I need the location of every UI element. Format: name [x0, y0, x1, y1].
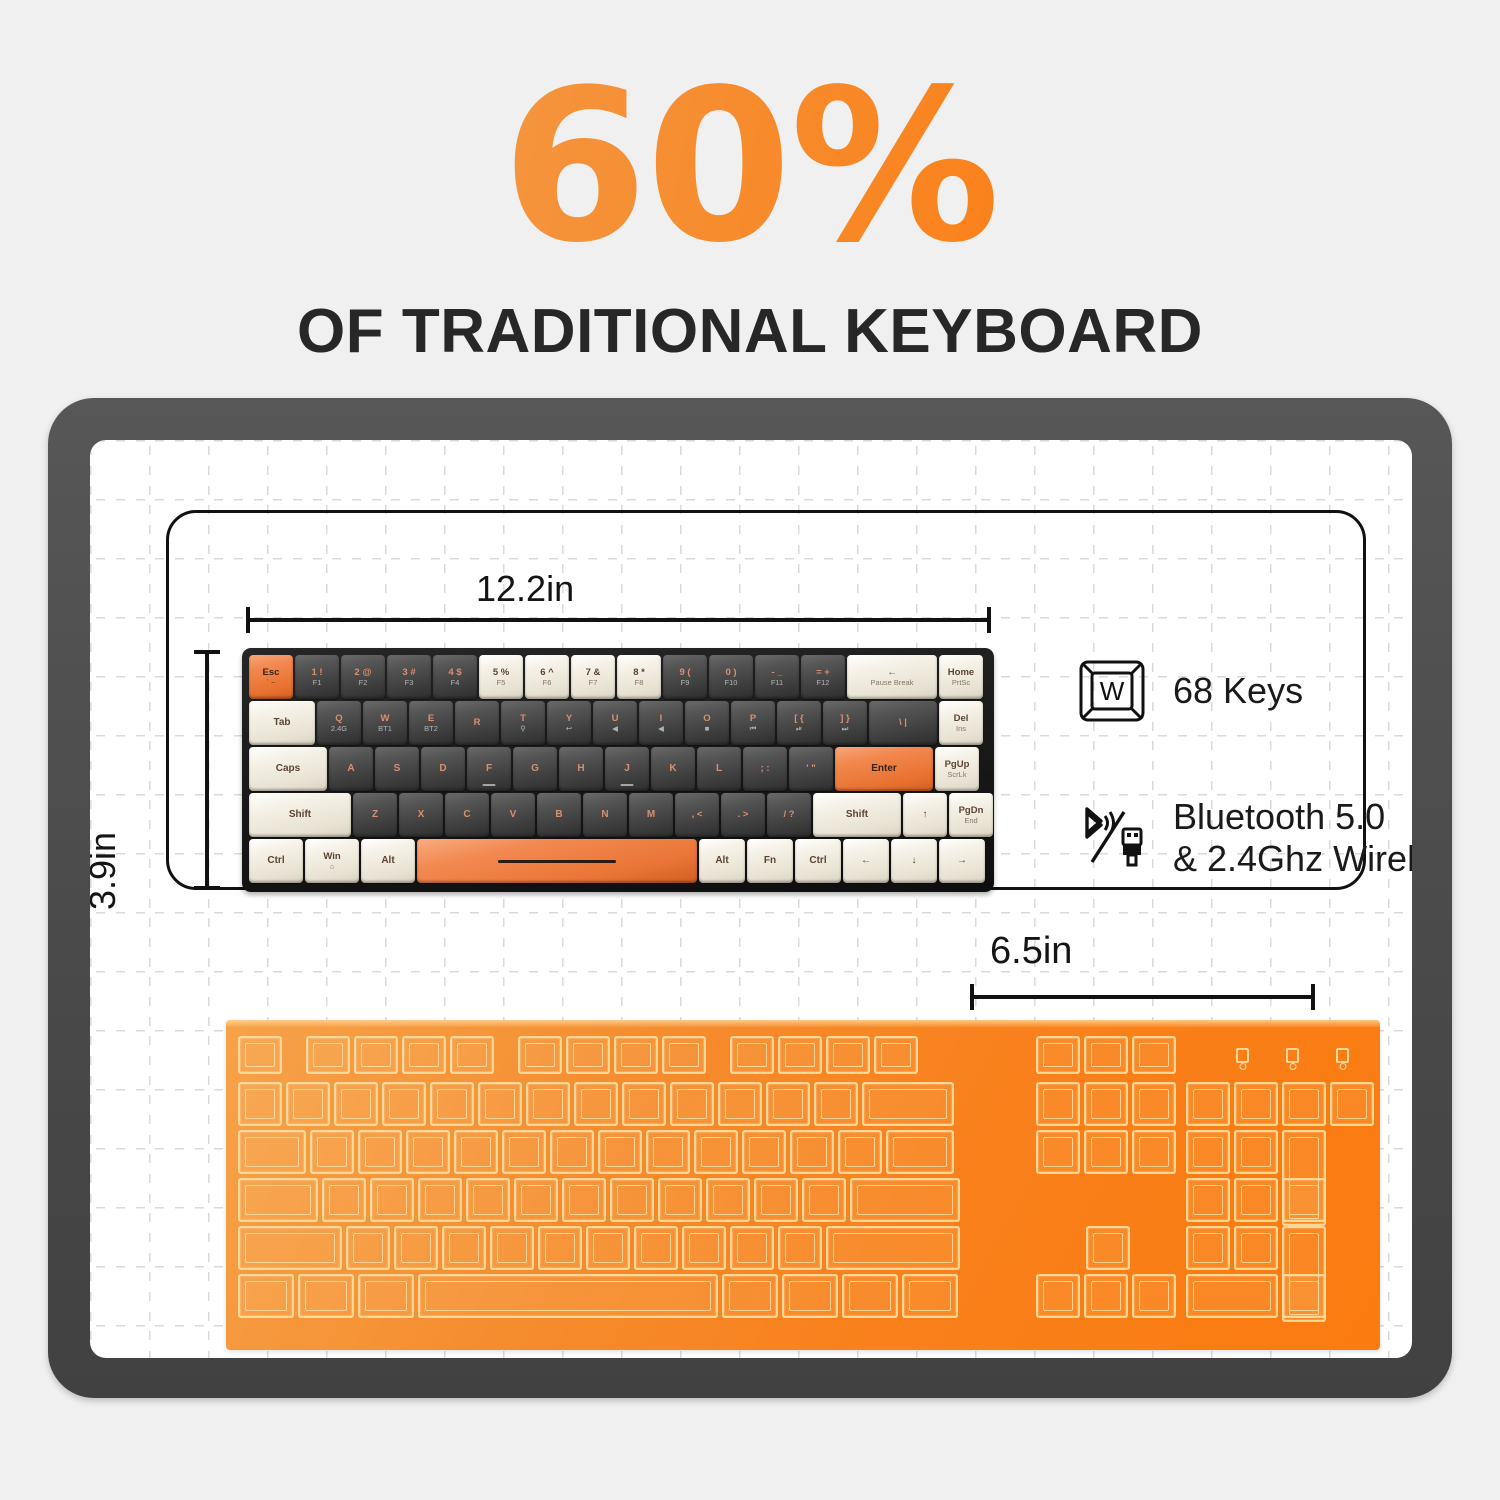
fullsize-key	[814, 1082, 858, 1126]
fullsize-key	[1084, 1130, 1128, 1174]
fullsize-key	[562, 1178, 606, 1222]
fullsize-key	[430, 1082, 474, 1126]
key-primary-label: 2 @	[354, 668, 371, 678]
home-row-bump	[621, 784, 634, 786]
key-label: →	[957, 856, 967, 867]
fullsize-key	[406, 1130, 450, 1174]
fullsize-key	[586, 1226, 630, 1270]
fullsize-key	[622, 1082, 666, 1126]
key-label: G	[531, 764, 539, 775]
key-primary-label: W	[381, 714, 390, 724]
key-g[interactable]: G	[513, 747, 557, 791]
fullsize-key	[442, 1226, 486, 1270]
fullsize-key	[658, 1178, 702, 1222]
key-6[interactable]: 6 ^F6	[525, 655, 569, 699]
key-q[interactable]: Q2.4G	[317, 701, 361, 745]
fullsize-key	[730, 1036, 774, 1074]
fullsize-key	[1186, 1226, 1230, 1270]
fullsize-key	[574, 1082, 618, 1126]
bluetooth-usb-dongle-icon	[1075, 805, 1149, 871]
fullsize-key	[238, 1226, 342, 1270]
key-secondary-label: ⏯	[796, 725, 802, 733]
fullsize-key	[646, 1130, 690, 1174]
home-row-bump	[483, 784, 496, 786]
fullsize-key	[450, 1036, 494, 1074]
fullsize-key	[670, 1082, 714, 1126]
key-secondary-label: F10	[725, 679, 738, 687]
fullsize-key	[1086, 1226, 1130, 1270]
key-del[interactable]: DelIns	[939, 701, 983, 745]
key-primary-label: 1 !	[311, 668, 322, 678]
fullsize-key	[1234, 1082, 1278, 1126]
fullsize-key	[662, 1036, 706, 1074]
key-sym[interactable]: = +F12	[801, 655, 845, 699]
key-label: J	[624, 764, 630, 775]
fullsize-key-row	[1036, 1274, 1180, 1318]
key-primary-label: . >	[738, 810, 749, 820]
fullsize-key	[298, 1274, 354, 1318]
key-primary-label: , <	[692, 810, 703, 820]
fullsize-key-row	[238, 1130, 958, 1174]
fullsize-key	[454, 1130, 498, 1174]
key-esc[interactable]: Esc` ~	[249, 655, 293, 699]
fullsize-key	[598, 1130, 642, 1174]
fullsize-key	[466, 1178, 510, 1222]
key-p[interactable]: P⏮	[731, 701, 775, 745]
fullsize-key	[610, 1178, 654, 1222]
key-sym[interactable]: [ {⏯	[777, 701, 821, 745]
fullsize-key	[394, 1226, 438, 1270]
status-led-icon	[1286, 1048, 1299, 1063]
fullsize-key	[1282, 1178, 1326, 1222]
key-label: Ctrl	[267, 856, 284, 867]
key-secondary-label: ScrLk	[947, 771, 966, 779]
fullsize-key	[1036, 1274, 1080, 1318]
key-secondary-label: End	[964, 817, 977, 825]
key-label: Ctrl	[809, 856, 826, 867]
key-label: Caps	[276, 764, 300, 775]
key-j[interactable]: J	[605, 747, 649, 791]
key-a[interactable]: A	[329, 747, 373, 791]
key-gap	[286, 1036, 306, 1074]
key-caps[interactable]: Caps	[249, 747, 327, 791]
key-label: L	[716, 764, 722, 775]
fullsize-key-row	[238, 1274, 962, 1318]
key-u[interactable]: U◀	[593, 701, 637, 745]
key-primary-label: / ?	[783, 810, 794, 820]
key-primary-label: R	[474, 718, 481, 728]
key-8[interactable]: 8 *F8	[617, 655, 661, 699]
key-z[interactable]: Z	[353, 793, 397, 837]
percent-headline: 60%	[0, 62, 1500, 272]
fullsize-key	[682, 1226, 726, 1270]
fullsize-key	[634, 1226, 678, 1270]
fullsize-key	[1036, 1036, 1080, 1074]
key-w[interactable]: WBT1	[363, 701, 407, 745]
key-f[interactable]: F	[467, 747, 511, 791]
key-primary-label: 7 &	[586, 668, 601, 678]
fullsize-key-row	[1186, 1082, 1378, 1126]
key-label: A	[347, 764, 354, 775]
key-ctrl[interactable]: Ctrl	[795, 839, 841, 883]
fullsize-key	[310, 1130, 354, 1174]
fullsize-key	[718, 1082, 762, 1126]
key-primary-label: 5 %	[493, 668, 509, 678]
key-primary-label: Q	[335, 714, 342, 724]
key-primary-label: [ {	[794, 714, 804, 724]
key-label: Z	[372, 810, 378, 821]
key-label: Shift	[289, 810, 311, 821]
fullsize-key	[754, 1178, 798, 1222]
key-space[interactable]	[417, 839, 697, 883]
key-sym[interactable]: →	[939, 839, 985, 883]
keycap-w-icon: W	[1075, 658, 1149, 724]
fullsize-key	[1282, 1082, 1326, 1126]
fullsize-key-row	[1086, 1226, 1134, 1270]
key-secondary-label: F5	[497, 679, 506, 687]
dimension-rule-extra-width	[970, 995, 1315, 999]
key-b[interactable]: B	[537, 793, 581, 837]
key-primary-label: \ |	[899, 718, 907, 728]
key-primary-label: E	[428, 714, 434, 724]
key-secondary-label: F2	[359, 679, 368, 687]
key-sym[interactable]: ; :	[743, 747, 787, 791]
key-primary-label: 4 $	[448, 668, 461, 678]
key-primary-label: Win	[323, 852, 340, 862]
fullsize-key	[502, 1130, 546, 1174]
fullsize-key	[862, 1082, 954, 1126]
key-fn[interactable]: Fn	[747, 839, 793, 883]
fullsize-key	[358, 1130, 402, 1174]
key-pgdn[interactable]: PgDnEnd	[949, 793, 993, 837]
fullsize-key	[1282, 1274, 1326, 1318]
fullsize-key	[566, 1036, 610, 1074]
key-secondary-label: Ins	[956, 725, 966, 733]
key-label: N	[601, 810, 608, 821]
key-label: Alt	[715, 856, 728, 867]
key-m[interactable]: M	[629, 793, 673, 837]
fullsize-key	[778, 1226, 822, 1270]
key-primary-label: ] }	[840, 714, 850, 724]
fullsize-key	[1234, 1178, 1278, 1222]
key-9[interactable]: 9 (F9	[663, 655, 707, 699]
key-l[interactable]: L	[697, 747, 741, 791]
fullsize-key	[1234, 1226, 1278, 1270]
key-x[interactable]: X	[399, 793, 443, 837]
key-shift[interactable]: Shift	[249, 793, 351, 837]
key-sym[interactable]: ↓	[891, 839, 937, 883]
key-primary-label: ' "	[806, 764, 815, 774]
key-label: K	[669, 764, 676, 775]
key-win[interactable]: Win⌂	[305, 839, 359, 883]
key-label: Shift	[846, 810, 868, 821]
key-primary-label: 9 (	[679, 668, 690, 678]
dimension-label-extra-width: 6.5in	[990, 930, 1072, 973]
fullsize-keyboard-silhouette	[226, 1020, 1380, 1350]
key-h[interactable]: H	[559, 747, 603, 791]
fullsize-key	[1132, 1274, 1176, 1318]
fullsize-key-row	[238, 1082, 958, 1126]
key-secondary-label: F3	[405, 679, 414, 687]
fullsize-key	[1084, 1036, 1128, 1074]
fullsize-key	[1132, 1130, 1176, 1174]
key-d[interactable]: D	[421, 747, 465, 791]
key-label: H	[577, 764, 584, 775]
key-label: B	[555, 810, 562, 821]
key-secondary-label: ⏭	[842, 725, 849, 733]
compact-key-row: ShiftZXCVBNM, <. >/ ?Shift↑PgDnEnd	[249, 793, 988, 837]
key-secondary-label: ⌂	[330, 863, 335, 871]
key-secondary-label: ⏮	[750, 725, 757, 733]
fullsize-key-row	[1186, 1274, 1330, 1318]
fullsize-key	[238, 1274, 294, 1318]
key-sym[interactable]: - _F11	[755, 655, 799, 699]
key-secondary-label: ↩	[566, 725, 572, 733]
key-ctrl[interactable]: Ctrl	[249, 839, 303, 883]
key-secondary-label: BT2	[424, 725, 438, 733]
key-primary-label: U	[612, 714, 619, 724]
fullsize-key-row	[238, 1226, 964, 1270]
key-primary-label: O	[703, 714, 710, 724]
feature-label-keys: 68 Keys	[1173, 670, 1303, 712]
key-secondary-label: ■	[705, 725, 710, 733]
fullsize-key	[1084, 1082, 1128, 1126]
fullsize-key	[346, 1226, 390, 1270]
key-secondary-label: F1	[313, 679, 322, 687]
key-alt[interactable]: Alt	[699, 839, 745, 883]
key-primary-label: PgDn	[959, 806, 984, 816]
showcase-canvas: 12.2in 3.9in 6.5in Esc` ~1 !F12 @F23 #F3…	[90, 440, 1412, 1358]
status-led-icon	[1236, 1048, 1249, 1063]
key-primary-label: = +	[816, 668, 830, 678]
fullsize-key	[742, 1130, 786, 1174]
key-i[interactable]: I◀	[639, 701, 683, 745]
key-e[interactable]: EBT2	[409, 701, 453, 745]
fullsize-key	[238, 1130, 306, 1174]
key-v[interactable]: V	[491, 793, 535, 837]
key-label: X	[418, 810, 425, 821]
fullsize-key	[1186, 1274, 1278, 1318]
fullsize-key	[370, 1178, 414, 1222]
fullsize-key	[706, 1178, 750, 1222]
feature-list: W 68 Keys	[1075, 658, 1412, 953]
fullsize-key-row	[1186, 1178, 1330, 1222]
fullsize-key	[238, 1178, 318, 1222]
fullsize-key	[886, 1130, 954, 1174]
fullsize-key	[1186, 1178, 1230, 1222]
key-sym[interactable]: ] }⏭	[823, 701, 867, 745]
fullsize-key	[514, 1178, 558, 1222]
fullsize-key	[354, 1036, 398, 1074]
key-primary-label: Home	[948, 668, 974, 678]
fullsize-key	[286, 1082, 330, 1126]
key-sym[interactable]: , <	[675, 793, 719, 837]
key-label: C	[463, 810, 470, 821]
fullsize-key-row	[238, 1036, 922, 1074]
key-primary-label: Del	[954, 714, 969, 724]
fullsize-key	[334, 1082, 378, 1126]
fullsize-key-row	[1036, 1036, 1180, 1074]
key-secondary-label: F4	[451, 679, 460, 687]
headline-block: 60% OF TRADITIONAL KEYBOARD	[0, 0, 1500, 367]
key-secondary-label: BT1	[378, 725, 392, 733]
fullsize-key	[790, 1130, 834, 1174]
key-secondary-label: ◀	[658, 725, 664, 733]
key-sym[interactable]: / ?	[767, 793, 811, 837]
fullsize-key	[838, 1130, 882, 1174]
key-primary-label: I	[660, 714, 663, 724]
key-k[interactable]: K	[651, 747, 695, 791]
fullsize-key	[518, 1036, 562, 1074]
fullsize-key	[418, 1178, 462, 1222]
key-label: Alt	[381, 856, 394, 867]
key-sym[interactable]: \ |	[869, 701, 937, 745]
fullsize-key-row	[238, 1178, 964, 1222]
fullsize-key	[730, 1226, 774, 1270]
key-sym[interactable]: ←Pause Break	[847, 655, 937, 699]
showcase-frame: 12.2in 3.9in 6.5in Esc` ~1 !F12 @F23 #F3…	[48, 398, 1452, 1398]
key-r[interactable]: R	[455, 701, 499, 745]
key-primary-label: PgUp	[945, 760, 970, 770]
key-1[interactable]: 1 !F1	[295, 655, 339, 699]
key-7[interactable]: 7 &F7	[571, 655, 615, 699]
key-sym[interactable]: ←	[843, 839, 889, 883]
fullsize-key	[778, 1036, 822, 1074]
dimension-rule-height	[205, 650, 209, 890]
key-label: V	[510, 810, 517, 821]
fullsize-key	[766, 1082, 810, 1126]
key-primary-label: 8 *	[633, 668, 645, 678]
key-n[interactable]: N	[583, 793, 627, 837]
key-label: S	[394, 764, 401, 775]
key-secondary-label: PrtSc	[952, 679, 970, 687]
key-pgup[interactable]: PgUpScrLk	[935, 747, 979, 791]
key-secondary-label: ◀	[612, 725, 618, 733]
fullsize-key	[722, 1274, 778, 1318]
key-home[interactable]: HomePrtSc	[939, 655, 983, 699]
fullsize-key	[526, 1082, 570, 1126]
key-secondary-label: F11	[771, 679, 783, 687]
key-secondary-label: F9	[681, 679, 690, 687]
key-s[interactable]: S	[375, 747, 419, 791]
key-c[interactable]: C	[445, 793, 489, 837]
key-primary-label: ; :	[761, 764, 770, 774]
key-2[interactable]: 2 @F2	[341, 655, 385, 699]
key-label: Tab	[273, 718, 290, 729]
key-label: ↓	[912, 856, 917, 867]
key-gap	[498, 1036, 518, 1074]
key-sym[interactable]: . >	[721, 793, 765, 837]
compact-key-row: TabQ2.4GWBT1EBT2RT⚲Y↩U◀I◀O■P⏮[ {⏯] }⏭\ |…	[249, 701, 988, 745]
key-3[interactable]: 3 #F3	[387, 655, 431, 699]
fullsize-key	[614, 1036, 658, 1074]
key-label: Fn	[764, 856, 776, 867]
key-y[interactable]: Y↩	[547, 701, 591, 745]
key-primary-label: 6 ^	[540, 668, 553, 678]
fullsize-key	[1186, 1082, 1230, 1126]
svg-text:W: W	[1100, 676, 1125, 706]
key-t[interactable]: T⚲	[501, 701, 545, 745]
key-primary-label: - _	[771, 668, 782, 678]
fullsize-key	[694, 1130, 738, 1174]
key-secondary-label: ` ~	[267, 679, 276, 687]
fullsize-key	[238, 1082, 282, 1126]
key-o[interactable]: O■	[685, 701, 729, 745]
fullsize-key	[782, 1274, 838, 1318]
fullsize-key	[490, 1226, 534, 1270]
compact-key-row: Esc` ~1 !F12 @F23 #F34 $F45 %F56 ^F67 &F…	[249, 655, 988, 699]
fullsize-key	[1132, 1082, 1176, 1126]
key-secondary-label: 2.4G	[331, 725, 347, 733]
fullsize-key	[238, 1036, 282, 1074]
fullsize-key	[402, 1036, 446, 1074]
key-label: ↑	[923, 810, 928, 821]
fullsize-key	[1036, 1130, 1080, 1174]
key-4[interactable]: 4 $F4	[433, 655, 477, 699]
compact-keyboard: Esc` ~1 !F12 @F23 #F34 $F45 %F56 ^F67 &F…	[242, 648, 994, 892]
key-enter[interactable]: Enter	[835, 747, 933, 791]
feature-item-keys: W 68 Keys	[1075, 658, 1412, 724]
dimension-rule-width	[246, 618, 991, 622]
fullsize-key	[826, 1226, 960, 1270]
fullsize-key	[850, 1178, 960, 1222]
fullsize-key	[1234, 1130, 1278, 1174]
feature-item-wireless: Bluetooth 5.0 & 2.4Ghz Wireless	[1075, 796, 1412, 881]
key-secondary-label: F7	[589, 679, 598, 687]
fullsize-key	[802, 1178, 846, 1222]
fullsize-key	[902, 1274, 958, 1318]
key-label: ←	[861, 856, 871, 867]
compact-key-row: CapsASDFGHJKL; :' "EnterPgUpScrLk	[249, 747, 988, 791]
key-secondary-label: F12	[817, 679, 830, 687]
key-primary-label: 3 #	[402, 668, 415, 678]
key-0[interactable]: 0 )F10	[709, 655, 753, 699]
infographic-page: 60% OF TRADITIONAL KEYBOARD 12.2in 3.9in…	[0, 0, 1500, 1500]
fullsize-key	[306, 1036, 350, 1074]
key-sym[interactable]: ' "	[789, 747, 833, 791]
fullsize-key	[358, 1274, 414, 1318]
key-primary-label: Esc	[263, 668, 280, 678]
key-alt[interactable]: Alt	[361, 839, 415, 883]
status-led-icon	[1336, 1048, 1349, 1063]
subtitle-headline: OF TRADITIONAL KEYBOARD	[0, 296, 1500, 367]
fullsize-key	[550, 1130, 594, 1174]
key-shift[interactable]: Shift	[813, 793, 901, 837]
key-primary-label: T	[520, 714, 526, 724]
fullsize-key	[842, 1274, 898, 1318]
key-primary-label: 0 )	[725, 668, 736, 678]
key-secondary-label: F6	[543, 679, 552, 687]
spacebar-indent	[498, 860, 616, 863]
fullsize-key	[418, 1274, 718, 1318]
fullsize-key	[1036, 1082, 1080, 1126]
fullsize-key	[478, 1082, 522, 1126]
key-gap	[710, 1036, 730, 1074]
compact-key-row: CtrlWin⌂AltAltFnCtrl←↓→	[249, 839, 988, 883]
key-sym[interactable]: ↑	[903, 793, 947, 837]
dimension-label-width: 12.2in	[476, 568, 574, 610]
key-label: F	[486, 764, 492, 775]
feature-label-wireless: Bluetooth 5.0 & 2.4Ghz Wireless	[1173, 796, 1412, 881]
fullsize-key	[874, 1036, 918, 1074]
key-secondary-label: ⚲	[520, 725, 526, 733]
key-5[interactable]: 5 %F5	[479, 655, 523, 699]
key-label: D	[439, 764, 446, 775]
key-tab[interactable]: Tab	[249, 701, 315, 745]
key-primary-label: P	[750, 714, 756, 724]
fullsize-key	[382, 1082, 426, 1126]
fullsize-key	[1330, 1082, 1374, 1126]
